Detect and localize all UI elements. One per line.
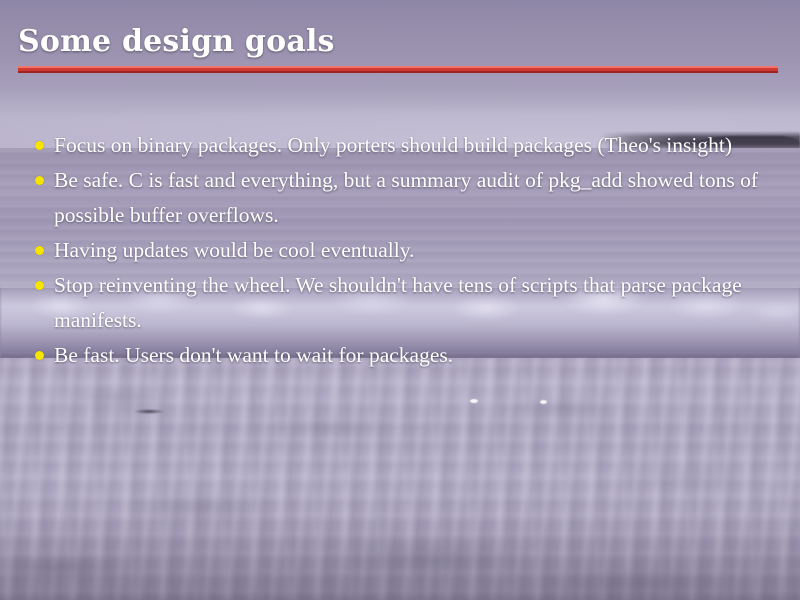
bullet-dot-icon [35,176,44,185]
list-item-text: Be safe. C is fast and everything, but a… [54,163,774,233]
list-item-text: Focus on binary packages. Only porters s… [54,128,774,163]
bullet-dot-icon [35,246,44,255]
title-underline-rule [18,66,778,73]
bullet-list: Focus on binary packages. Only porters s… [34,128,774,373]
bullet-dot-icon [35,281,44,290]
presentation-slide: Some design goals Focus on binary packag… [0,0,800,600]
list-item-text: Having updates would be cool eventually. [54,233,774,268]
list-item: Focus on binary packages. Only porters s… [34,128,774,163]
slide-content: Some design goals Focus on binary packag… [0,0,800,600]
slide-title: Some design goals [18,24,335,60]
bullet-dot-icon [35,141,44,150]
list-item: Be safe. C is fast and everything, but a… [34,163,774,233]
list-item-text: Stop reinventing the wheel. We shouldn't… [54,268,774,338]
list-item-text: Be fast. Users don't want to wait for pa… [54,338,774,373]
bullet-dot-icon [35,351,44,360]
list-item: Stop reinventing the wheel. We shouldn't… [34,268,774,338]
list-item: Having updates would be cool eventually. [34,233,774,268]
list-item: Be fast. Users don't want to wait for pa… [34,338,774,373]
